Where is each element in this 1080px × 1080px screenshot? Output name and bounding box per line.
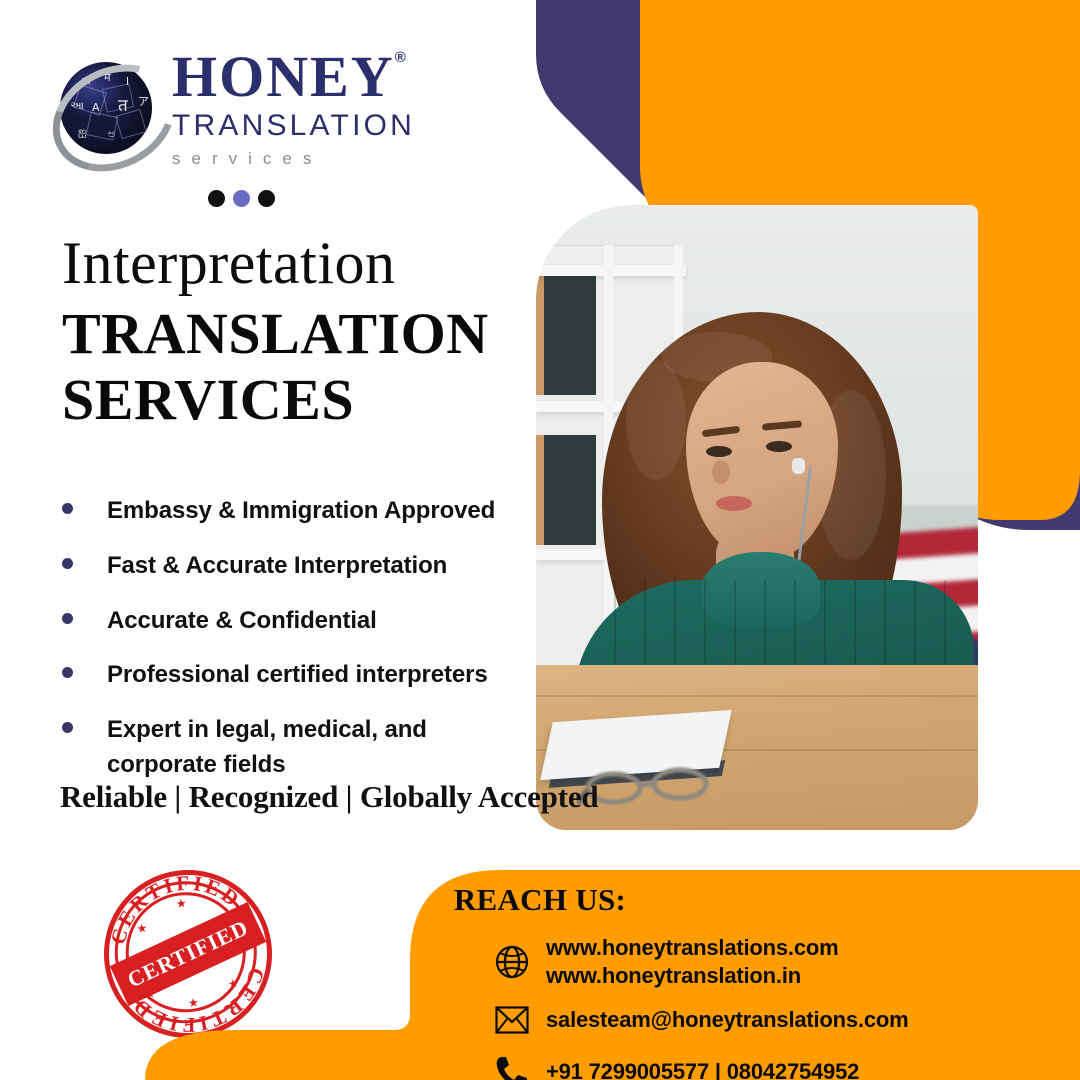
- phone-numbers[interactable]: +91 7299005577 | 08042754952: [546, 1058, 859, 1080]
- language-globe-icon: क म l આ A त ア ஐ ಅ: [52, 54, 160, 162]
- poster-canvas: क म l આ A त ア ஐ ಅ HONEY® TRANSLATION: [0, 0, 1080, 1080]
- website-row[interactable]: www.honeytranslations.com www.honeytrans…: [490, 934, 838, 989]
- website-2[interactable]: www.honeytranslation.in: [546, 962, 838, 990]
- bullet-dot-icon: [62, 722, 73, 733]
- logo-translation-text: TRANSLATION: [172, 109, 457, 144]
- website-1[interactable]: www.honeytranslations.com: [546, 934, 838, 962]
- dot-2: [233, 190, 250, 207]
- brand-logo[interactable]: क म l આ A त ア ஐ ಅ HONEY® TRANSLATION: [52, 48, 452, 173]
- contact-panel: REACH US: www.honeytranslations.com www.…: [0, 856, 1080, 1080]
- website-list[interactable]: www.honeytranslations.com www.honeytrans…: [546, 934, 838, 989]
- contact-title: REACH US:: [0, 882, 1080, 918]
- list-item: Expert in legal, medical, and corporate …: [56, 713, 526, 783]
- headline-bold-line-1: TRANSLATION: [62, 301, 522, 367]
- globe-icon: [490, 940, 534, 984]
- bullet-dot-icon: [62, 558, 73, 569]
- feature-list: Embassy & Immigration Approved Fast & Ac…: [56, 494, 526, 803]
- list-item-label: Fast & Accurate Interpretation: [107, 549, 447, 584]
- logo-services-text: services: [172, 149, 457, 169]
- dot-3: [258, 190, 275, 207]
- bullet-dot-icon: [62, 503, 73, 514]
- hero-photo: [536, 205, 978, 830]
- headline-script: Interpretation: [62, 232, 522, 295]
- list-item-label: Professional certified interpreters: [107, 658, 488, 693]
- list-item: Fast & Accurate Interpretation: [56, 549, 526, 584]
- logo-main-word: HONEY: [172, 44, 395, 109]
- eyeglasses: [576, 764, 726, 806]
- dot-1: [208, 190, 225, 207]
- envelope-icon: [490, 998, 534, 1042]
- list-item: Accurate & Confidential: [56, 604, 526, 639]
- bullet-dot-icon: [62, 613, 73, 624]
- list-item: Professional certified interpreters: [56, 658, 526, 693]
- headline-bold: TRANSLATION SERVICES: [62, 301, 522, 432]
- bullet-dot-icon: [62, 667, 73, 678]
- headline-bold-line-2: SERVICES: [62, 367, 522, 433]
- headline-block: Interpretation TRANSLATION SERVICES: [62, 232, 522, 432]
- phone-icon: [490, 1050, 534, 1080]
- list-item-label: Accurate & Confidential: [107, 604, 377, 639]
- registered-mark-icon: ®: [395, 50, 408, 65]
- dot-separator: [208, 190, 278, 210]
- tagline-text: Reliable | Recognized | Globally Accepte…: [60, 779, 598, 815]
- list-item-label: Embassy & Immigration Approved: [107, 494, 495, 529]
- logo-honey-text: HONEY®: [172, 48, 457, 106]
- phone-row[interactable]: +91 7299005577 | 08042754952: [490, 1050, 859, 1080]
- list-item-label: Expert in legal, medical, and corporate …: [107, 713, 437, 783]
- list-item: Embassy & Immigration Approved: [56, 494, 526, 529]
- email-address[interactable]: salesteam@honeytranslations.com: [546, 1006, 909, 1034]
- email-row[interactable]: salesteam@honeytranslations.com: [490, 998, 909, 1042]
